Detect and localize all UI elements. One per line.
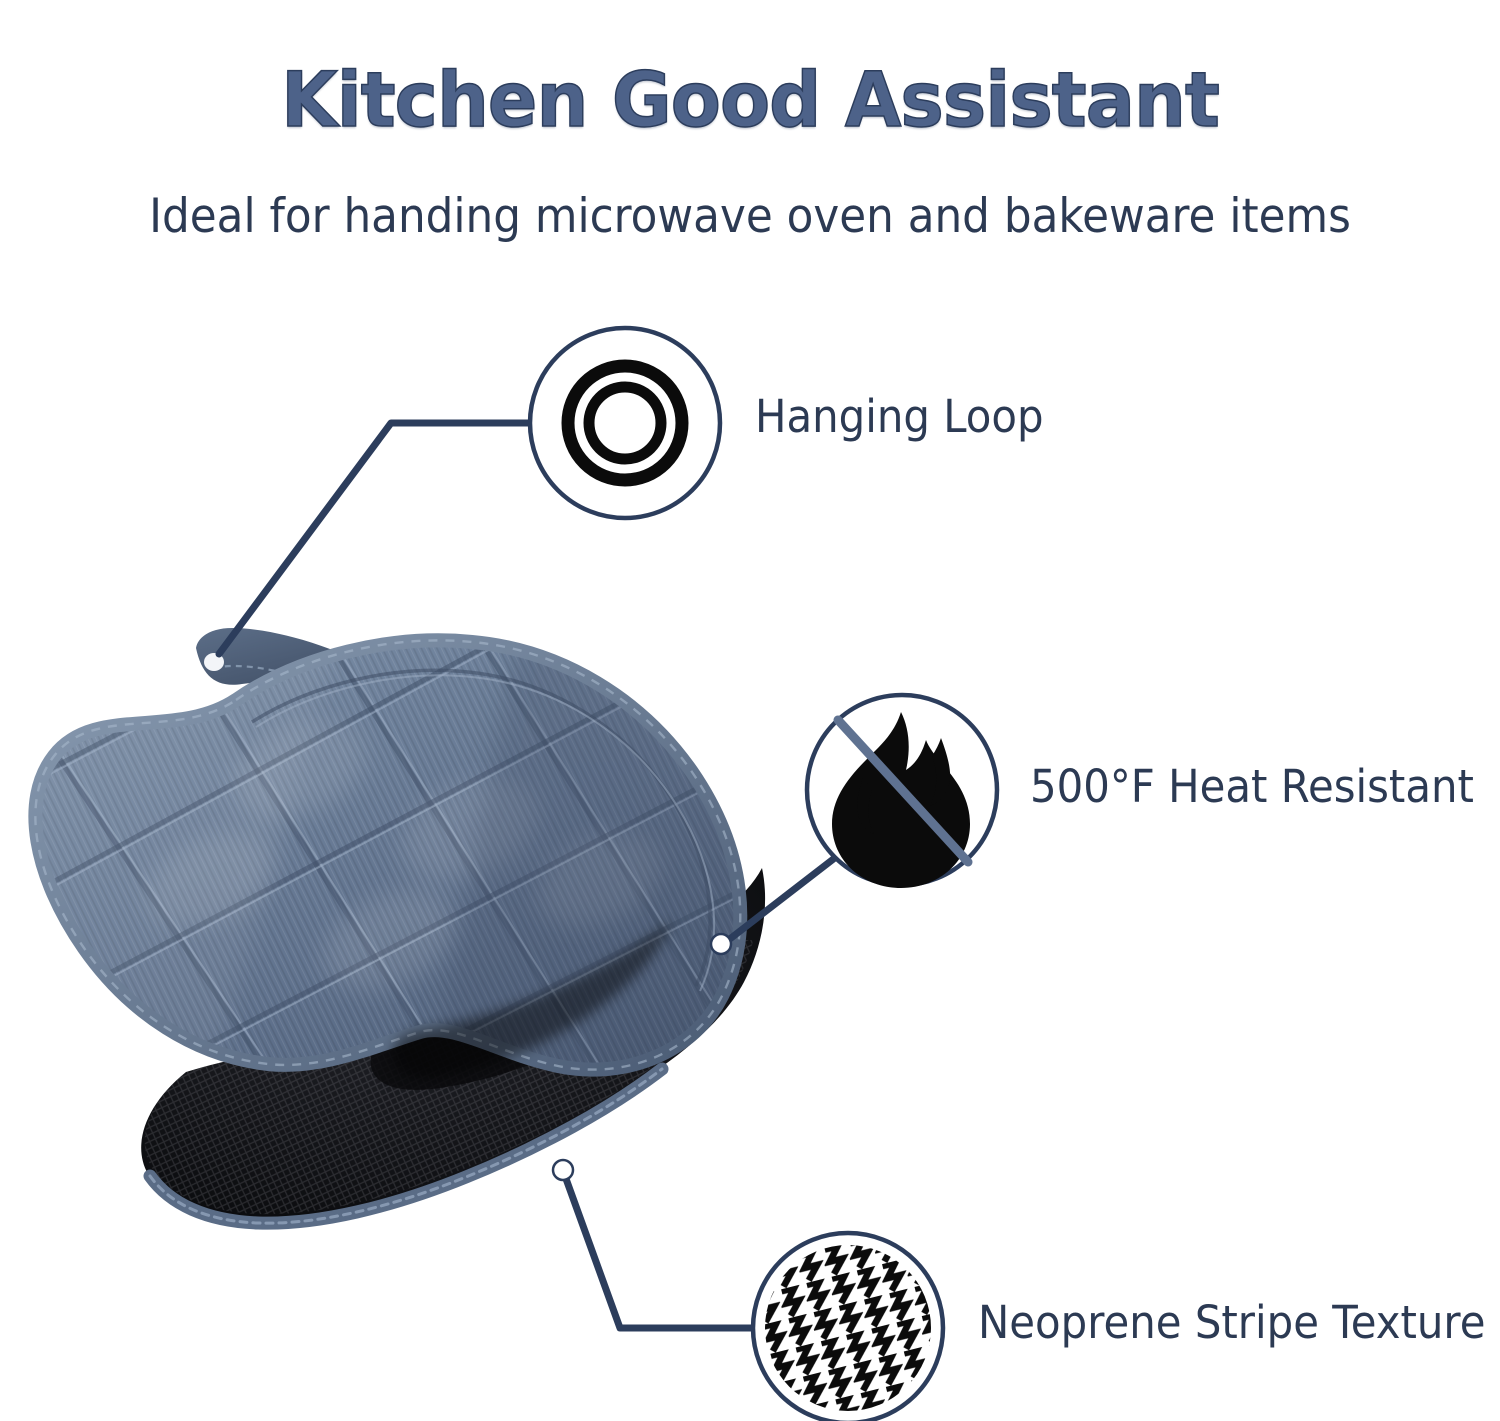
page-title: Kitchen Good Assistant <box>30 53 1470 147</box>
leader-line-neoprene <box>565 1176 765 1328</box>
leader-line-hanging-loop <box>219 423 530 654</box>
callout-circle-hanging-loop[interactable] <box>530 328 720 518</box>
product-image-oven-mitt <box>0 560 845 1260</box>
callout-label-neoprene-texture: Neoprene Stripe Texture <box>978 1296 1485 1349</box>
callout-heat-resistant[interactable] <box>807 695 997 888</box>
callout-neoprene-texture[interactable] <box>752 1232 944 1421</box>
anchor-dot-neoprene <box>553 1160 573 1180</box>
callout-label-hanging-loop: Hanging Loop <box>755 390 1044 443</box>
callout-label-heat-resistant: 500°F Heat Resistant <box>1030 760 1474 813</box>
callout-hanging-loop[interactable] <box>530 328 720 518</box>
page-subtitle: Ideal for handing microwave oven and bak… <box>53 187 1448 247</box>
anchor-dot-heat <box>711 934 731 954</box>
product-infographic: Kitchen Good Assistant Ideal for handing… <box>0 0 1500 1421</box>
